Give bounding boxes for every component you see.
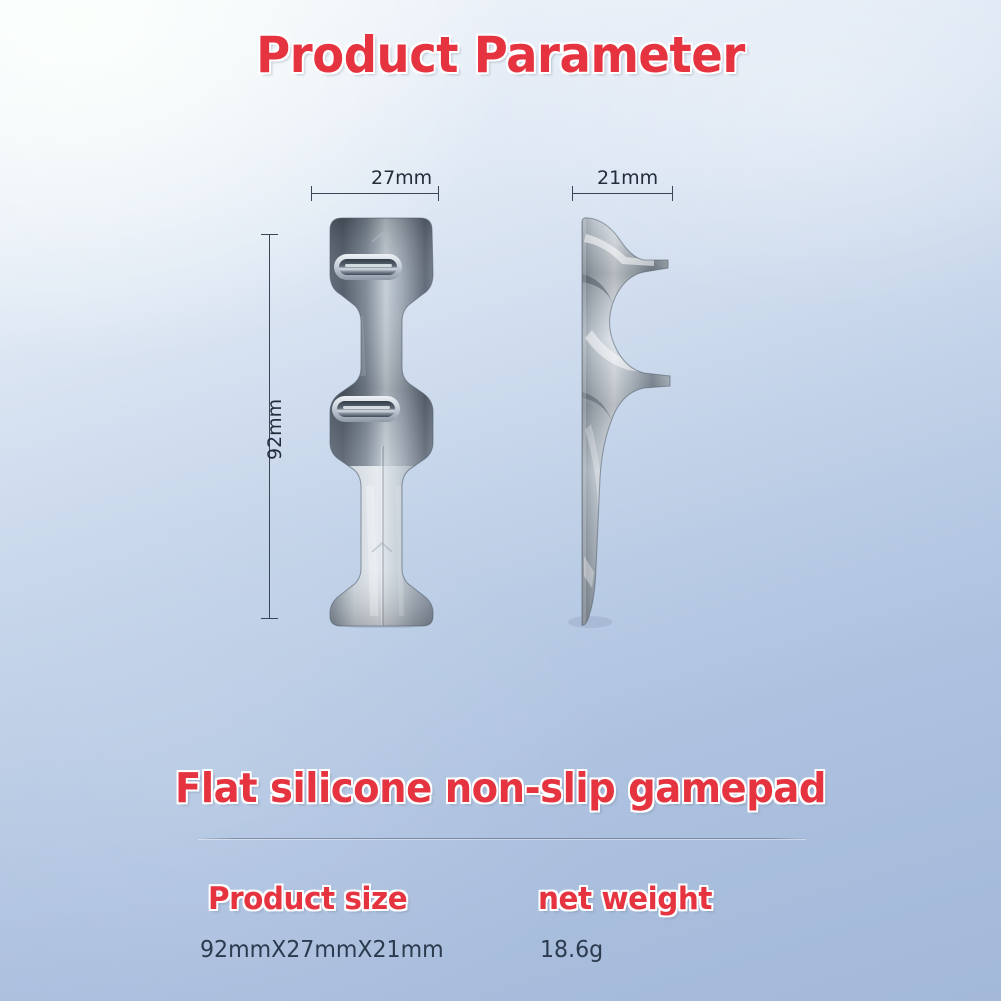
product-subtitle: Flat silicone non-slip gamepad xyxy=(30,764,971,812)
dimension-cap-depth-right xyxy=(672,186,673,201)
section-divider xyxy=(198,838,806,839)
product-slot-lower xyxy=(332,396,400,422)
spec-value-net-weight: 18.6g xyxy=(540,937,603,963)
dimension-cap-depth-left xyxy=(572,186,573,201)
spec-value-product-size: 92mmX27mmX21mm xyxy=(200,937,444,963)
dimension-line-width xyxy=(311,193,439,194)
dimension-label-depth: 21mm xyxy=(597,167,658,189)
product-side-view xyxy=(558,216,693,628)
dimension-line-depth xyxy=(572,193,673,194)
dimension-label-height: 92mm xyxy=(264,399,286,460)
product-front-view xyxy=(300,216,465,628)
page-title: Product Parameter xyxy=(35,26,966,84)
spec-label-product-size: Product size xyxy=(208,881,407,917)
dimension-label-width: 27mm xyxy=(371,167,432,189)
dimension-cap-height-top xyxy=(261,234,278,235)
product-slot-upper xyxy=(334,254,402,280)
product-parameter-page: Product Parameter 27mm 21mm 92mm xyxy=(0,0,1001,1001)
dimension-cap-height-bottom xyxy=(261,618,278,619)
dimension-cap-width-left xyxy=(311,186,312,201)
spec-label-net-weight: net weight xyxy=(538,881,712,917)
dimension-cap-width-right xyxy=(438,186,439,201)
background-gradient xyxy=(0,0,1001,1001)
